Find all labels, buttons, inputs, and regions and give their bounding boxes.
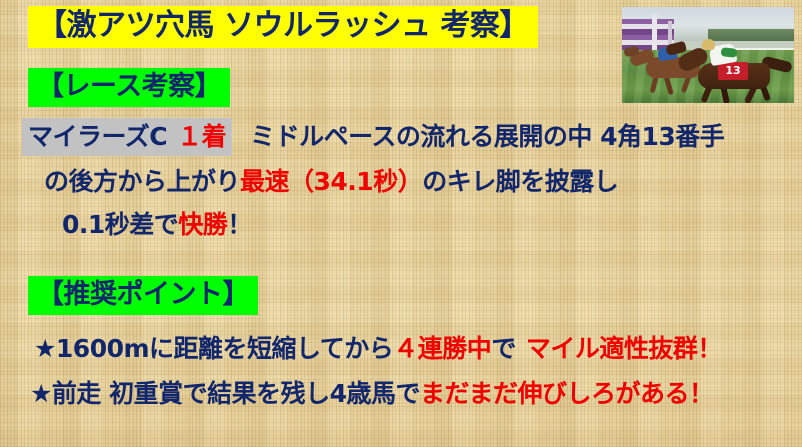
point-bullet-1: ★1600mに距離を短縮してから４連勝中でマイル適性抜群！	[34, 336, 722, 361]
point-section-heading: 【推奨ポイント】	[28, 276, 258, 315]
race-section-heading: 【レース考察】	[28, 68, 230, 107]
slide-canvas: 【激アツ穴馬 ソウルラッシュ 考察】 【レース考察】 マイラーズC１着ミドルペー…	[0, 0, 802, 447]
race-name-text: マイラーズC	[28, 122, 167, 151]
point-bullet-2: ★前走 初重賞で結果を残し4歳馬でまだまだ伸びしろがある！	[30, 381, 714, 406]
race-fastest-split-text: 最速（34.1秒）	[240, 167, 422, 196]
race-win-exclamation: ！	[227, 210, 252, 239]
point-win-streak-text: ４連勝中	[393, 334, 491, 363]
race-photo: 13	[622, 7, 794, 103]
page-title: 【激アツ穴馬 ソウルラッシュ 考察】	[28, 6, 538, 48]
photo-saddlecloth-number: 13	[721, 63, 745, 78]
race-result-badge: マイラーズC１着	[22, 118, 232, 156]
race-pace-text: ミドルペースの流れる展開の中 4角13番手	[250, 122, 724, 151]
point-section-heading-text: 【推奨ポイント】	[28, 276, 258, 315]
point-connector-text: で	[491, 334, 516, 363]
race-section-heading-text: 【レース考察】	[28, 68, 230, 107]
point-distance-text: ★1600mに距離を短縮してから	[34, 334, 393, 363]
page-title-text: 【激アツ穴馬 ソウルラッシュ 考察】	[28, 6, 538, 48]
point-previous-race-text: ★前走 初重賞で結果を残し4歳馬で	[30, 379, 420, 408]
race-body-line-3: 0.1秒差で快勝！	[62, 212, 252, 237]
point-mile-aptitude-text: マイル適性抜群！	[526, 334, 722, 363]
race-win-text: 快勝	[178, 210, 227, 239]
photo-lead-jockey-helmet	[702, 39, 715, 50]
photo-lead-jockey-sleeve	[721, 47, 738, 58]
race-body-line-2: の後方から上がり最速（34.1秒）のキレ脚を披露し	[44, 169, 618, 194]
race-closing-run-text: の後方から上がり	[44, 167, 240, 196]
point-upside-text: まだまだ伸びしろがある！	[420, 379, 714, 408]
race-turn-of-foot-text: のキレ脚を披露し	[422, 167, 618, 196]
race-body-line-1: マイラーズC１着ミドルペースの流れる展開の中 4角13番手	[22, 124, 724, 149]
race-margin-text: 0.1秒差で	[62, 210, 178, 239]
race-finish-position-text: １着	[177, 122, 226, 151]
